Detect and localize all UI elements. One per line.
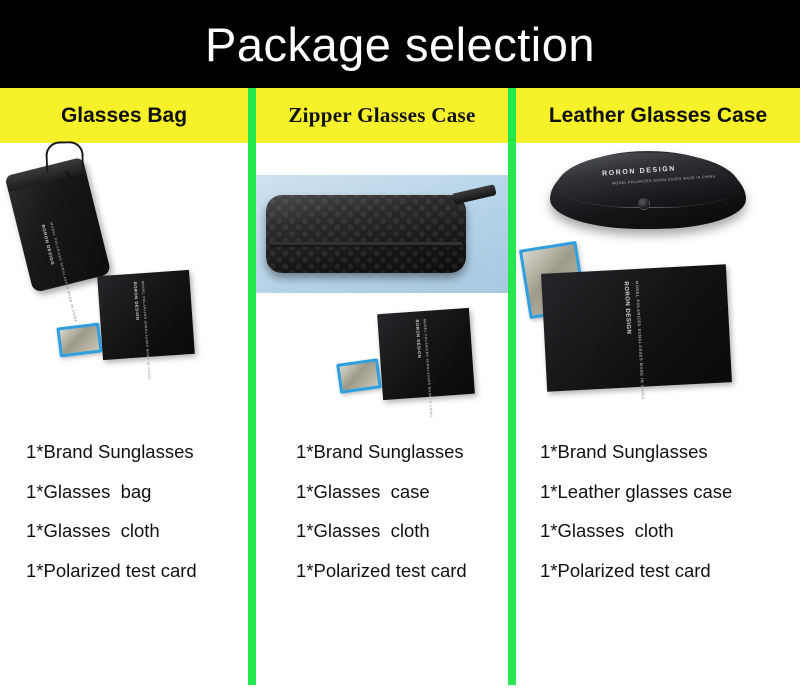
leather-case-snap-button	[638, 198, 650, 210]
cloth-brand-subtext: MODEL POLARIZED SUNGLASSES MADE IN CHINA	[634, 281, 646, 400]
list-item: 1*Brand Sunglasses	[296, 443, 467, 462]
test-card-window	[60, 326, 100, 354]
zipper-glasses-case-image	[266, 195, 466, 273]
list-item: 1*Glasses cloth	[26, 522, 197, 541]
cloth-brand-subtext: MODEL POLARIZED SUNGLASSES MADE IN CHINA	[422, 319, 434, 418]
list-item: 1*Glasses cloth	[540, 522, 732, 541]
column-header-band: Glasses Bag Zipper Glasses Case Leather …	[0, 88, 800, 143]
leather-glasses-case-image: RORON DESIGN MODEL POLARIZED SUNGLASSES …	[550, 151, 746, 229]
list-item: 1*Glasses case	[296, 483, 467, 502]
polarized-test-card-image	[336, 358, 382, 394]
product-photo-glasses-bag: RORON DESIGN MODEL POLARIZED SUNGLASSES …	[0, 143, 248, 433]
pouch-drawstring-loop	[45, 141, 84, 172]
cloth-brand-text: RORON DESIGN	[131, 282, 140, 321]
package-option-glasses-bag[interactable]: RORON DESIGN MODEL POLARIZED SUNGLASSES …	[0, 143, 248, 689]
package-contents-list-leather-glasses-case: 1*Brand Sunglasses 1*Leather glasses cas…	[540, 443, 732, 601]
zipper-seam	[270, 242, 462, 247]
page-title: Package selection	[205, 21, 595, 68]
column-divider-1	[248, 88, 256, 685]
polarized-test-card-image	[56, 322, 102, 357]
zipper-case-photo-backdrop	[256, 175, 508, 293]
column-header-glasses-bag: Glasses Bag	[0, 88, 248, 143]
product-photo-leather-glasses-case: RORON DESIGN MODEL POLARIZED SUNGLASSES …	[516, 143, 800, 433]
glasses-pouch-image: RORON DESIGN MODEL POLARIZED SUNGLASSES …	[5, 157, 112, 293]
cloth-brand-text: RORON DESIGN	[413, 319, 422, 358]
list-item: 1*Polarized test card	[296, 562, 467, 581]
list-item: 1*Brand Sunglasses	[26, 443, 197, 462]
column-divider-2	[508, 88, 516, 685]
column-header-zipper-glasses-case: Zipper Glasses Case	[256, 88, 508, 143]
list-item: 1*Brand Sunglasses	[540, 443, 732, 462]
glasses-cloth-image: RORON DESIGN MODEL POLARIZED SUNGLASSES …	[97, 270, 195, 360]
list-item: 1*Leather glasses case	[540, 483, 732, 502]
package-option-zipper-glasses-case[interactable]: RORON DESIGN MODEL POLARIZED SUNGLASSES …	[256, 143, 508, 689]
product-photo-zipper-glasses-case: RORON DESIGN MODEL POLARIZED SUNGLASSES …	[256, 143, 508, 433]
test-card-window	[340, 362, 379, 391]
list-item: 1*Polarized test card	[26, 562, 197, 581]
list-item: 1*Glasses bag	[26, 483, 197, 502]
package-contents-list-zipper-glasses-case: 1*Brand Sunglasses 1*Glasses case 1*Glas…	[296, 443, 467, 601]
glasses-cloth-image: RORON DESIGN MODEL POLARIZED SUNGLASSES …	[541, 264, 732, 392]
zipper-pull-strap	[451, 184, 496, 205]
cloth-brand-text: RORON DESIGN	[621, 281, 633, 334]
glasses-cloth-image: RORON DESIGN MODEL POLARIZED SUNGLASSES …	[377, 308, 475, 400]
pouch-brand-subtext: MODEL POLARIZED SUNGLASSES MADE IN CHINA	[49, 222, 78, 323]
column-header-leather-glasses-case: Leather Glasses Case	[516, 88, 800, 143]
cloth-brand-subtext: MODEL POLARIZED SUNGLASSES MADE IN CHINA	[140, 281, 152, 380]
list-item: 1*Polarized test card	[540, 562, 732, 581]
list-item: 1*Glasses cloth	[296, 522, 467, 541]
title-bar: Package selection	[0, 0, 800, 88]
honeycomb-texture	[266, 195, 466, 273]
package-option-leather-glasses-case[interactable]: RORON DESIGN MODEL POLARIZED SUNGLASSES …	[516, 143, 800, 689]
package-contents-list-glasses-bag: 1*Brand Sunglasses 1*Glasses bag 1*Glass…	[26, 443, 197, 601]
